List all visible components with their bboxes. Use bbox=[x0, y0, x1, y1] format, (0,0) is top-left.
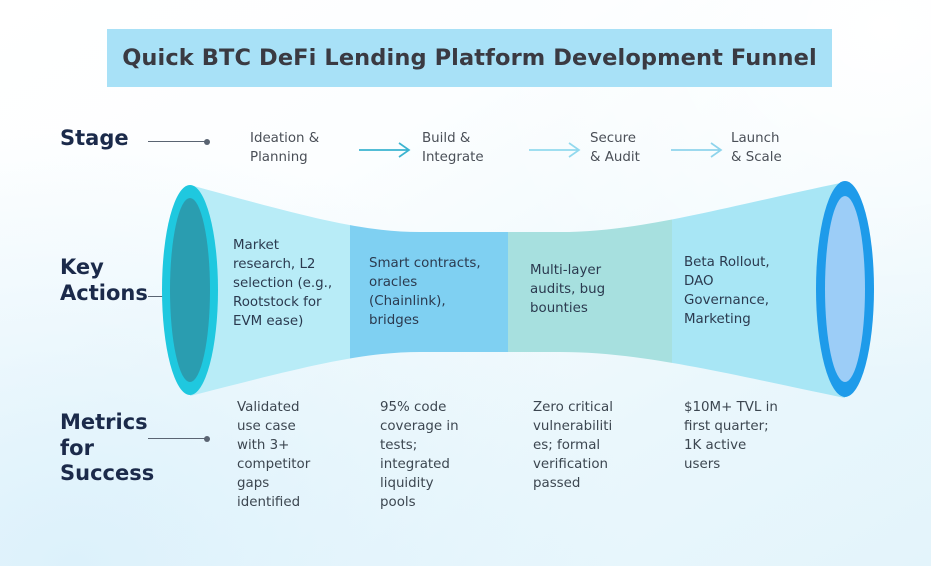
arrow-right-icon-3 bbox=[670, 140, 728, 160]
funnel-right-ring bbox=[816, 181, 874, 397]
page-title: Quick BTC DeFi Lending Platform Developm… bbox=[122, 45, 817, 71]
row-label-stage: Stage bbox=[60, 126, 129, 152]
title-banner: Quick BTC DeFi Lending Platform Developm… bbox=[107, 29, 832, 87]
key-action-4: Beta Rollout,DAOGovernance,Marketing bbox=[684, 253, 794, 329]
connector-dot bbox=[204, 294, 210, 300]
connector-stage bbox=[148, 137, 210, 146]
infographic-canvas: Quick BTC DeFi Lending Platform Developm… bbox=[0, 0, 931, 566]
connector-dot bbox=[204, 436, 210, 442]
metric-2: 95% codecoverage intests;integratedliqui… bbox=[380, 398, 485, 512]
metric-3: Zero criticalvulnerabilities; formalveri… bbox=[533, 398, 638, 493]
connector-key-actions bbox=[148, 292, 210, 301]
metric-4: $10M+ TVL infirst quarter;1K activeusers bbox=[684, 398, 794, 474]
funnel-right-fill bbox=[825, 196, 865, 382]
key-action-3: Multi-layeraudits, bugbounties bbox=[530, 261, 640, 318]
stage-name-2: Build &Integrate bbox=[422, 129, 527, 167]
arrow-right-icon-1 bbox=[358, 140, 416, 160]
connector-line bbox=[148, 141, 205, 143]
connector-line bbox=[148, 438, 205, 440]
stage-name-1: Ideation &Planning bbox=[250, 129, 355, 167]
row-label-metrics: MetricsforSuccess bbox=[60, 410, 200, 487]
stage-name-4: Launch& Scale bbox=[731, 129, 841, 167]
connector-dot bbox=[204, 139, 210, 145]
key-action-1: Marketresearch, L2selection (e.g.,Rootst… bbox=[233, 236, 343, 331]
arrow-right-icon-2 bbox=[528, 140, 586, 160]
connector-metrics bbox=[148, 434, 210, 443]
connector-line bbox=[148, 296, 205, 298]
metric-1: Validateduse casewith 3+competitorgapsid… bbox=[237, 398, 342, 512]
key-action-2: Smart contracts,oracles(Chainlink),bridg… bbox=[369, 254, 494, 330]
